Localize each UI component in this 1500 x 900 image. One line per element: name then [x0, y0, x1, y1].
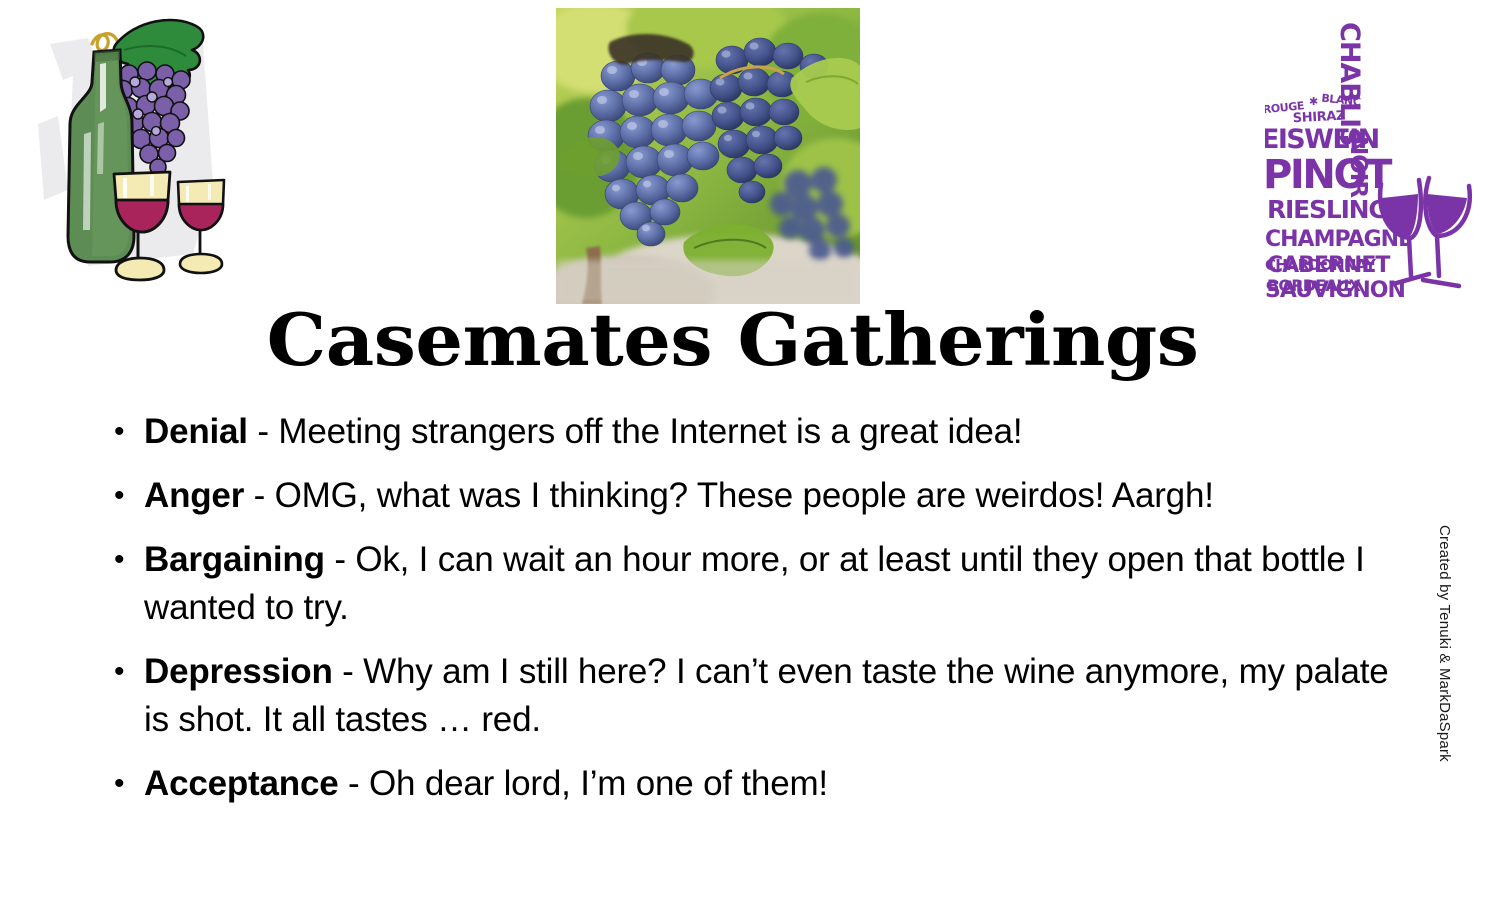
credit-text: Created by Tenuki & MarkDaSpark: [1437, 525, 1452, 762]
list-item: Bargaining - Ok, I can wait an hour more…: [108, 536, 1418, 632]
bullet-term: Acceptance: [144, 764, 338, 803]
page-title: Casemates Gatherings: [0, 300, 1494, 380]
wine-grapes-photograph: [556, 8, 860, 304]
list-item: Denial - Meeting strangers off the Inter…: [108, 408, 1418, 456]
svg-text:CHARDONNAY: CHARDONNAY: [1265, 256, 1377, 274]
presentation-slide: CHABLIS ROUGE ✱ BLANC SHIRAZ EISWEIN PIN…: [0, 0, 1500, 900]
bullet-separator: -: [244, 476, 275, 515]
list-item: Anger - OMG, what was I thinking? These …: [108, 472, 1418, 520]
five-stages-bullet-list: Denial - Meeting strangers off the Inter…: [108, 408, 1418, 808]
list-item: Acceptance - Oh dear lord, I’m one of th…: [108, 760, 1418, 808]
bullet-separator: -: [338, 764, 369, 803]
bullet-text: Oh dear lord, I’m one of them!: [369, 764, 828, 803]
wine-bottle-grapes-glasses-clipart: [28, 4, 243, 294]
bullet-text: OMG, what was I thinking? These people a…: [275, 476, 1214, 515]
bullet-term: Denial: [144, 412, 248, 451]
bullet-text: Meeting strangers off the Internet is a …: [278, 412, 1022, 451]
wordart-bottle-bottom-lines: CHARDONNAY BORDEAUX: [1265, 250, 1385, 305]
svg-text:BORDEAUX: BORDEAUX: [1267, 276, 1362, 295]
list-item: Depression - Why am I still here? I can’…: [108, 648, 1418, 744]
bullet-term: Depression: [144, 652, 333, 691]
bullet-term: Anger: [144, 476, 244, 515]
bullet-term: Bargaining: [144, 540, 325, 579]
bullet-separator: -: [325, 540, 356, 579]
bullet-separator: -: [333, 652, 364, 691]
bullet-separator: -: [248, 412, 279, 451]
